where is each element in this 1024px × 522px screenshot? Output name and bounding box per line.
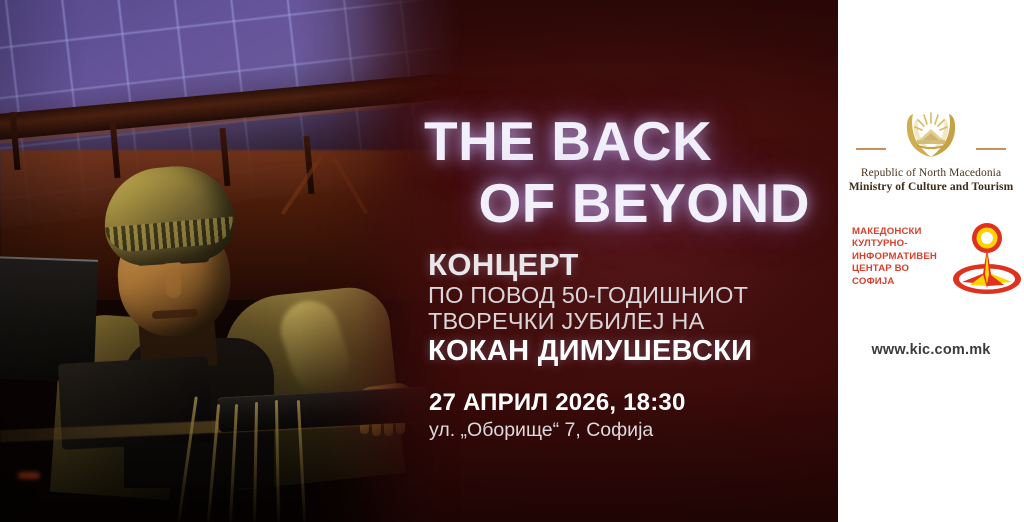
kic-sun-logo-icon — [950, 222, 1024, 300]
kic-line-3: ИНФОРМАТИВЕН — [852, 251, 948, 263]
kic-line-5: СОФИЈА — [852, 276, 948, 288]
emblem-rule-left — [856, 148, 886, 150]
event-description: КОНЦЕРТ ПО ПОВОД 50-ГОДИШНИОТ ТВОРЕЧКИ Ј… — [428, 248, 824, 368]
event-subline-2: ТВОРЕЧКИ ЈУБИЛЕЈ НА — [428, 308, 824, 334]
sponsor-sidebar: Republic of North Macedonia Ministry of … — [838, 0, 1024, 522]
kic-line-4: ЦЕНТАР ВО — [852, 263, 948, 275]
emblem-rule-right — [976, 148, 1006, 150]
kic-name: МАКЕДОНСКИ КУЛТУРНО- ИНФОРМАТИВЕН ЦЕНТАР… — [852, 226, 948, 288]
event-venue: ул. „Оборище“ 7, Софија — [429, 417, 825, 443]
title-line-1: THE BACK — [424, 110, 814, 172]
musician-photo — [0, 0, 470, 522]
kic-block: МАКЕДОНСКИ КУЛТУРНО- ИНФОРМАТИВЕН ЦЕНТАР… — [852, 222, 1022, 302]
artist-name: КОКАН ДИМУШЕВСКИ — [428, 334, 824, 368]
event-subline-1: ПО ПОВОД 50-ГОДИШНИОТ — [428, 282, 824, 308]
ministry-name: Ministry of Culture and Tourism — [838, 181, 1024, 193]
coat-of-arms-icon — [902, 104, 960, 160]
kic-line-2: КУЛТУРНО- — [852, 238, 948, 250]
ministry-country: Republic of North Macedonia — [838, 167, 1024, 179]
ministry-block: Republic of North Macedonia Ministry of … — [838, 104, 1024, 193]
concert-poster: THE BACK OF BEYOND КОНЦЕРТ ПО ПОВОД 50-Г… — [0, 0, 1024, 522]
event-date: 27 АПРИЛ 2026, 18:30 — [429, 388, 825, 417]
kic-line-1: МАКЕДОНСКИ — [852, 226, 948, 238]
emblem-row — [838, 104, 1024, 162]
website-url[interactable]: www.kic.com.mk — [838, 342, 1024, 358]
text-column: THE BACK OF BEYOND КОНЦЕРТ ПО ПОВОД 50-Г… — [424, 0, 824, 522]
event-datetime-venue: 27 АПРИЛ 2026, 18:30 ул. „Оборище“ 7, Со… — [429, 388, 825, 443]
poster-title: THE BACK OF BEYOND — [424, 110, 814, 234]
event-heading: КОНЦЕРТ — [428, 248, 824, 282]
title-line-2: OF BEYOND — [424, 172, 814, 234]
photo-shading-overlay — [0, 0, 470, 522]
